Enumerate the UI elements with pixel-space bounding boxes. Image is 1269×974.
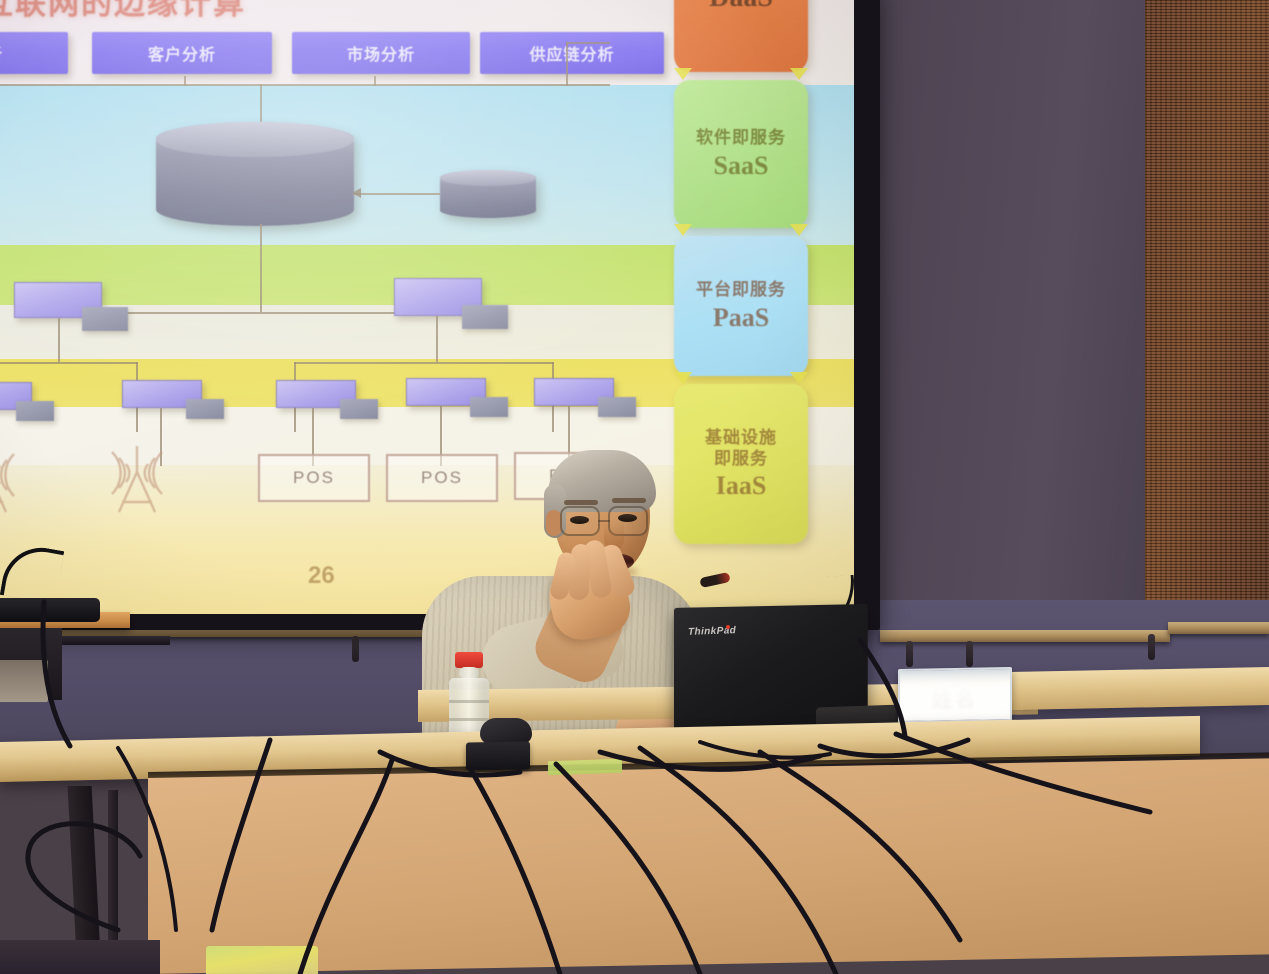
slide-page-number: 26 (308, 562, 335, 590)
connector-line (566, 42, 568, 86)
nameplate-glare (900, 669, 1010, 721)
edge-device-tab (82, 307, 128, 331)
terminal-device-tab (16, 401, 54, 421)
terminal-device (534, 378, 614, 406)
terminal-device (276, 380, 356, 408)
terminal-device (406, 378, 486, 406)
speaker-eye-left (570, 516, 589, 524)
speaker-brow-left (564, 500, 598, 505)
connector-line (0, 84, 610, 86)
floor-box (206, 946, 318, 974)
speaker-brow-right (612, 498, 646, 503)
terminal-device-tab (186, 399, 224, 419)
connector-line (436, 316, 438, 362)
microphone-boom (0, 542, 64, 605)
group-box-line (0, 362, 138, 364)
desk-front-panel (148, 758, 1269, 974)
connector-line (58, 318, 60, 362)
arrow-head-icon (352, 188, 361, 198)
cloud-layer-daas: DaaS (674, 0, 808, 72)
analysis-box: 供应链分析 (480, 32, 664, 74)
podium-microphone (0, 546, 122, 610)
bottle-ring (449, 700, 489, 703)
podium-base (0, 660, 48, 702)
desk-surface-right (1010, 667, 1269, 710)
database-cylinder-main (156, 122, 354, 226)
desk-leg (68, 786, 101, 956)
cloud-layer-saas-en: SaaS (714, 151, 769, 181)
connector-line (566, 42, 610, 44)
group-box-line (294, 362, 554, 364)
desk-leg-brace (108, 790, 118, 950)
terminal-device-tab (470, 397, 508, 417)
terminal-device-tab (340, 399, 378, 419)
antenna-tower-icon (0, 444, 34, 520)
edge-device-tab (462, 305, 508, 329)
cloud-layer-saas: 软件即服务 SaaS (674, 80, 808, 228)
stack-connector (674, 224, 808, 236)
floor (0, 940, 160, 974)
data-flow-arrow (354, 193, 440, 195)
edge-device (14, 282, 102, 318)
antenna-tower-icon (92, 442, 182, 520)
terminal-device (0, 382, 32, 410)
terminal-device (122, 380, 202, 408)
green-paper (548, 759, 622, 776)
rail-hook (906, 641, 913, 667)
bottle-cap (455, 652, 483, 668)
connector-line (374, 76, 376, 86)
cloud-layer-iaas-cn-1: 基础设施 (705, 427, 777, 448)
cloud-layer-paas-en: PaaS (713, 303, 769, 333)
terminal-device-tab (598, 397, 636, 417)
speaker-eye-right (618, 514, 637, 522)
wall-rail-center (880, 630, 1170, 642)
analysis-box-row: 分析 客户分析 市场分析 供应链分析 (0, 32, 664, 76)
connector-line (260, 84, 262, 122)
nameplate: 姓名 (898, 667, 1012, 723)
thinkpad-logo-dot-icon (726, 625, 730, 629)
rail-hook (1148, 634, 1155, 660)
cloud-layer-paas: 平台即服务 PaaS (674, 236, 808, 376)
rail-hook (966, 641, 973, 667)
computer-mouse[interactable] (480, 718, 532, 744)
analysis-box: 市场分析 (292, 32, 470, 74)
power-adapter (466, 741, 530, 770)
pos-terminal: POS (258, 454, 370, 502)
database-cylinder-secondary (440, 170, 536, 218)
edge-device (394, 278, 482, 316)
analysis-box: 分析 (0, 32, 68, 74)
cloud-layer-daas-label: DaaS (709, 0, 773, 14)
bottle-ring (449, 718, 489, 721)
rail-hook (352, 636, 359, 662)
wall-rail-right (1168, 622, 1269, 634)
connector-line (260, 224, 262, 312)
cloud-layer-saas-cn: 软件即服务 (696, 127, 786, 148)
stack-connector (674, 372, 808, 384)
acoustic-wall-panel (1145, 0, 1269, 700)
stack-connector (674, 68, 808, 80)
microphone-base (0, 598, 100, 622)
connector-line (184, 76, 186, 86)
wall-panel-right (900, 0, 1145, 700)
cloud-layer-paas-cn: 平台即服务 (696, 279, 786, 300)
slide-title: 工业互联网的边缘计算 (0, 0, 396, 23)
lecture-photograph: 工业互联网的边缘计算 分析 客户分析 市场分析 供应链分析 (0, 0, 1269, 974)
analysis-box: 客户分析 (92, 32, 272, 74)
